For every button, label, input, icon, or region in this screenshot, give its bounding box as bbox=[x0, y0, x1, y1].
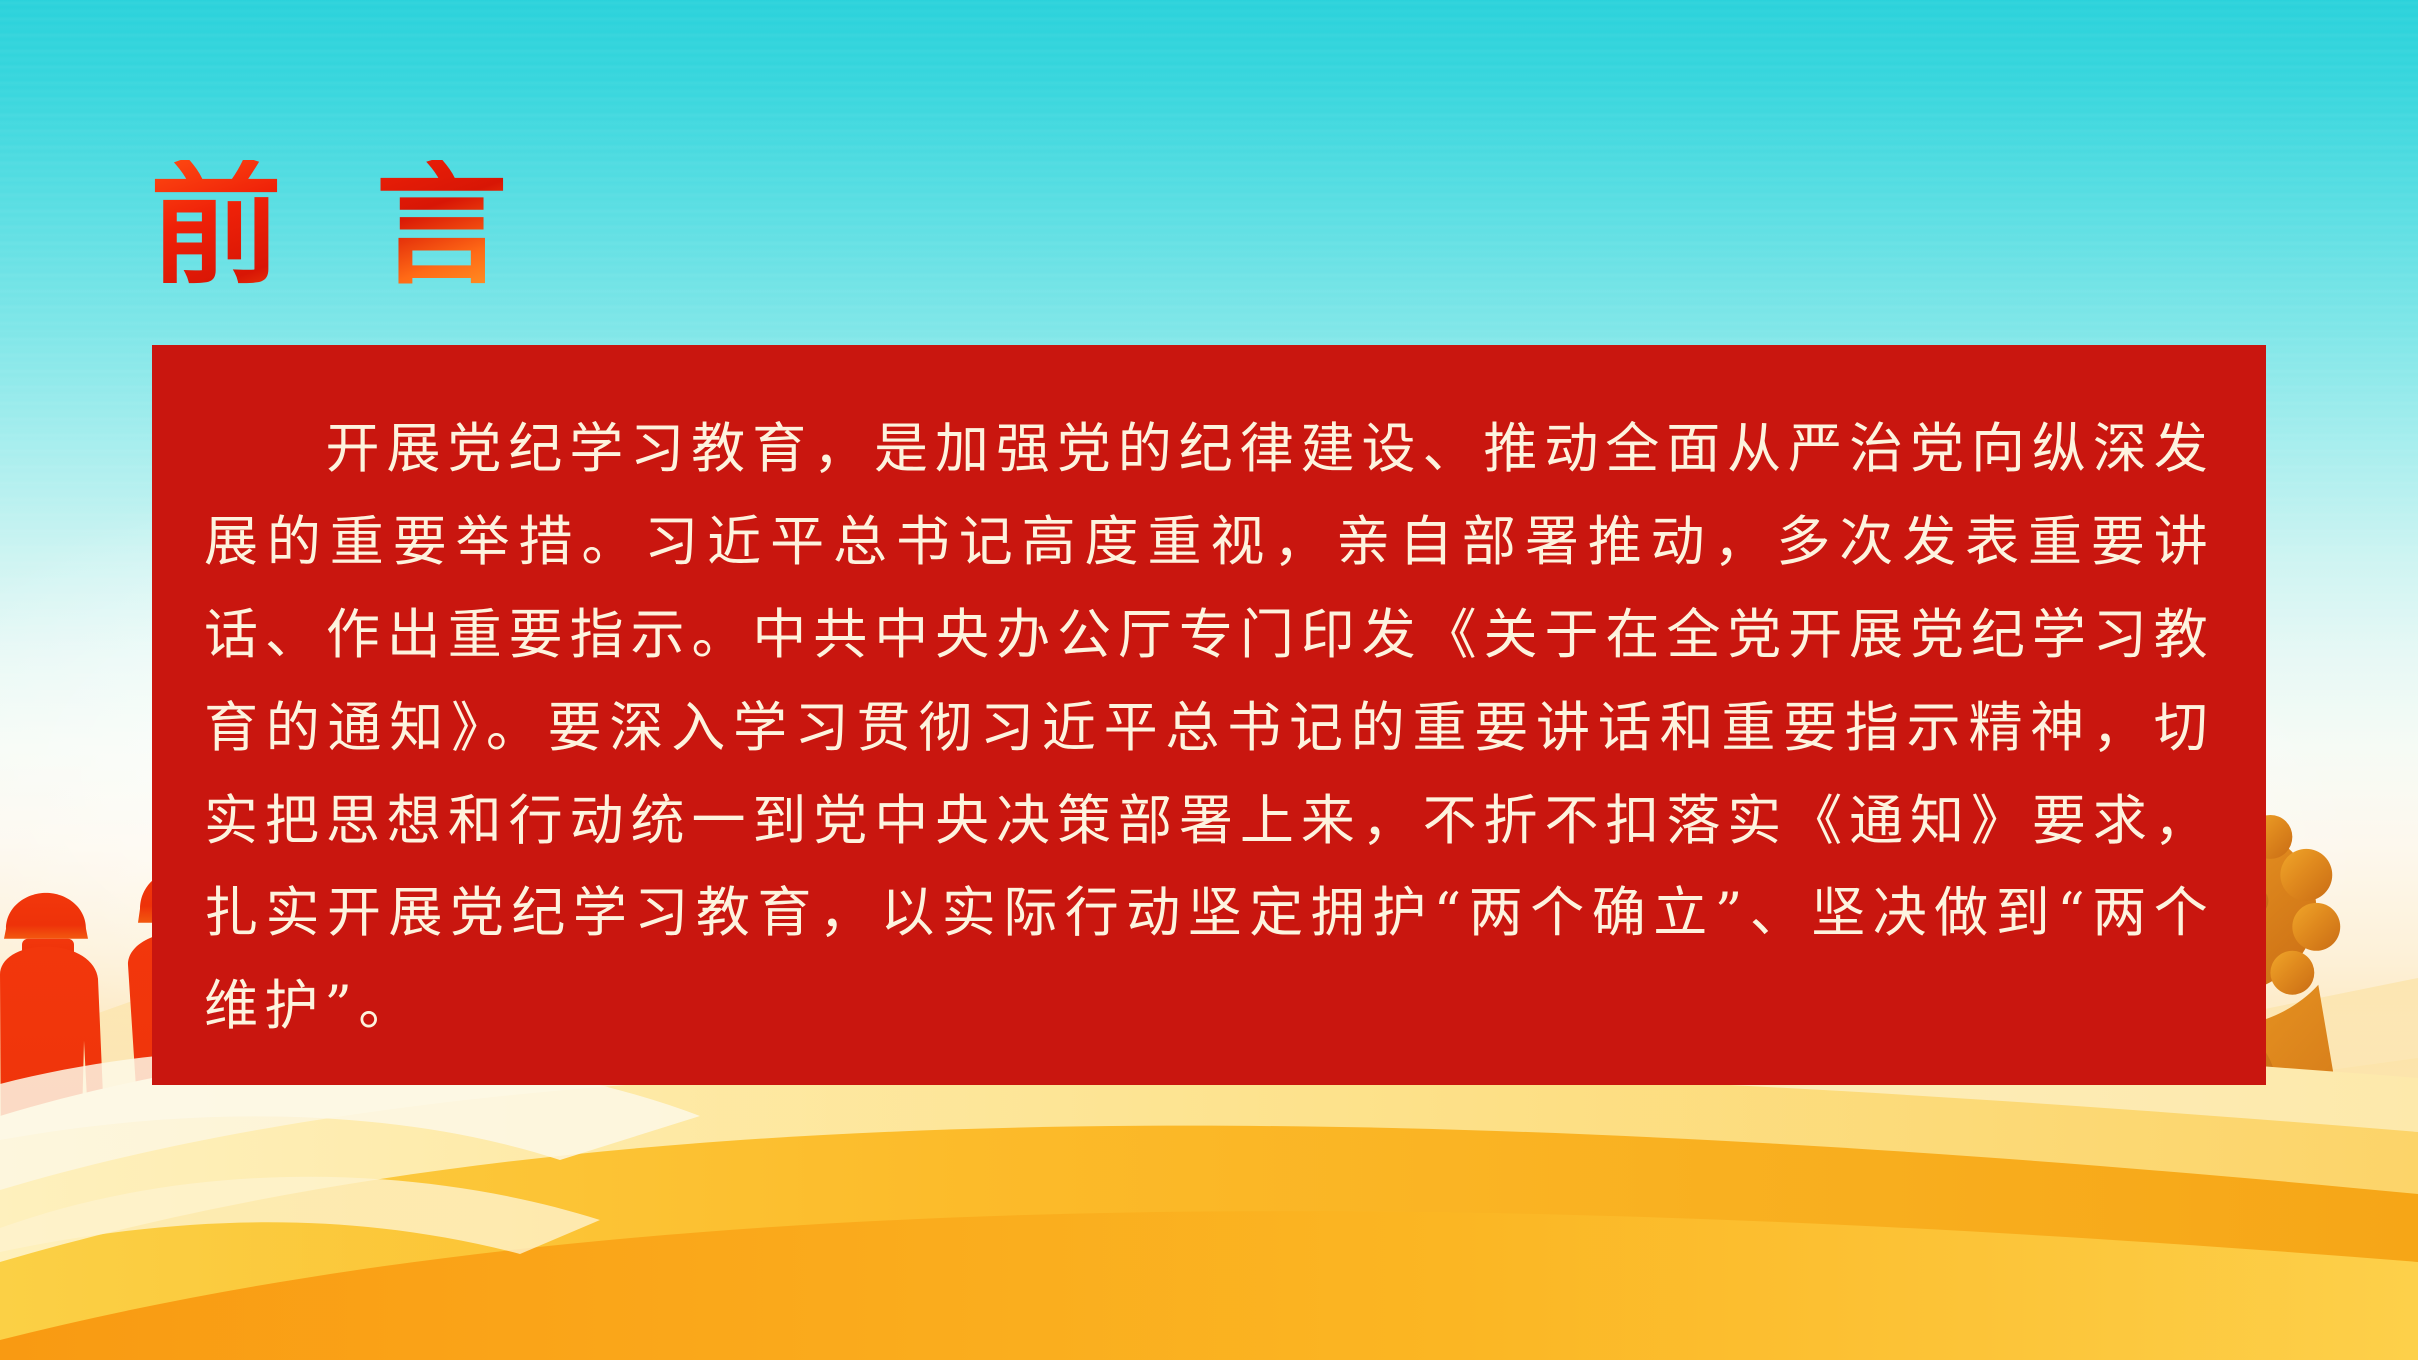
content-panel: 开展党纪学习教育，是加强党的纪律建设、推动全面从严治党向纵深发展的重要举措。习近… bbox=[152, 345, 2266, 1085]
page-title: 前 言 bbox=[150, 160, 531, 292]
slide-canvas: 前 言 开展党纪学习教育，是加强党的纪律建设、推动全面从严治党向纵深发展的重要举… bbox=[0, 0, 2418, 1360]
content-paragraph: 开展党纪学习教育，是加强党的纪律建设、推动全面从严治党向纵深发展的重要举措。习近… bbox=[204, 403, 2214, 1053]
page-title-text: 前 言 bbox=[150, 160, 531, 292]
